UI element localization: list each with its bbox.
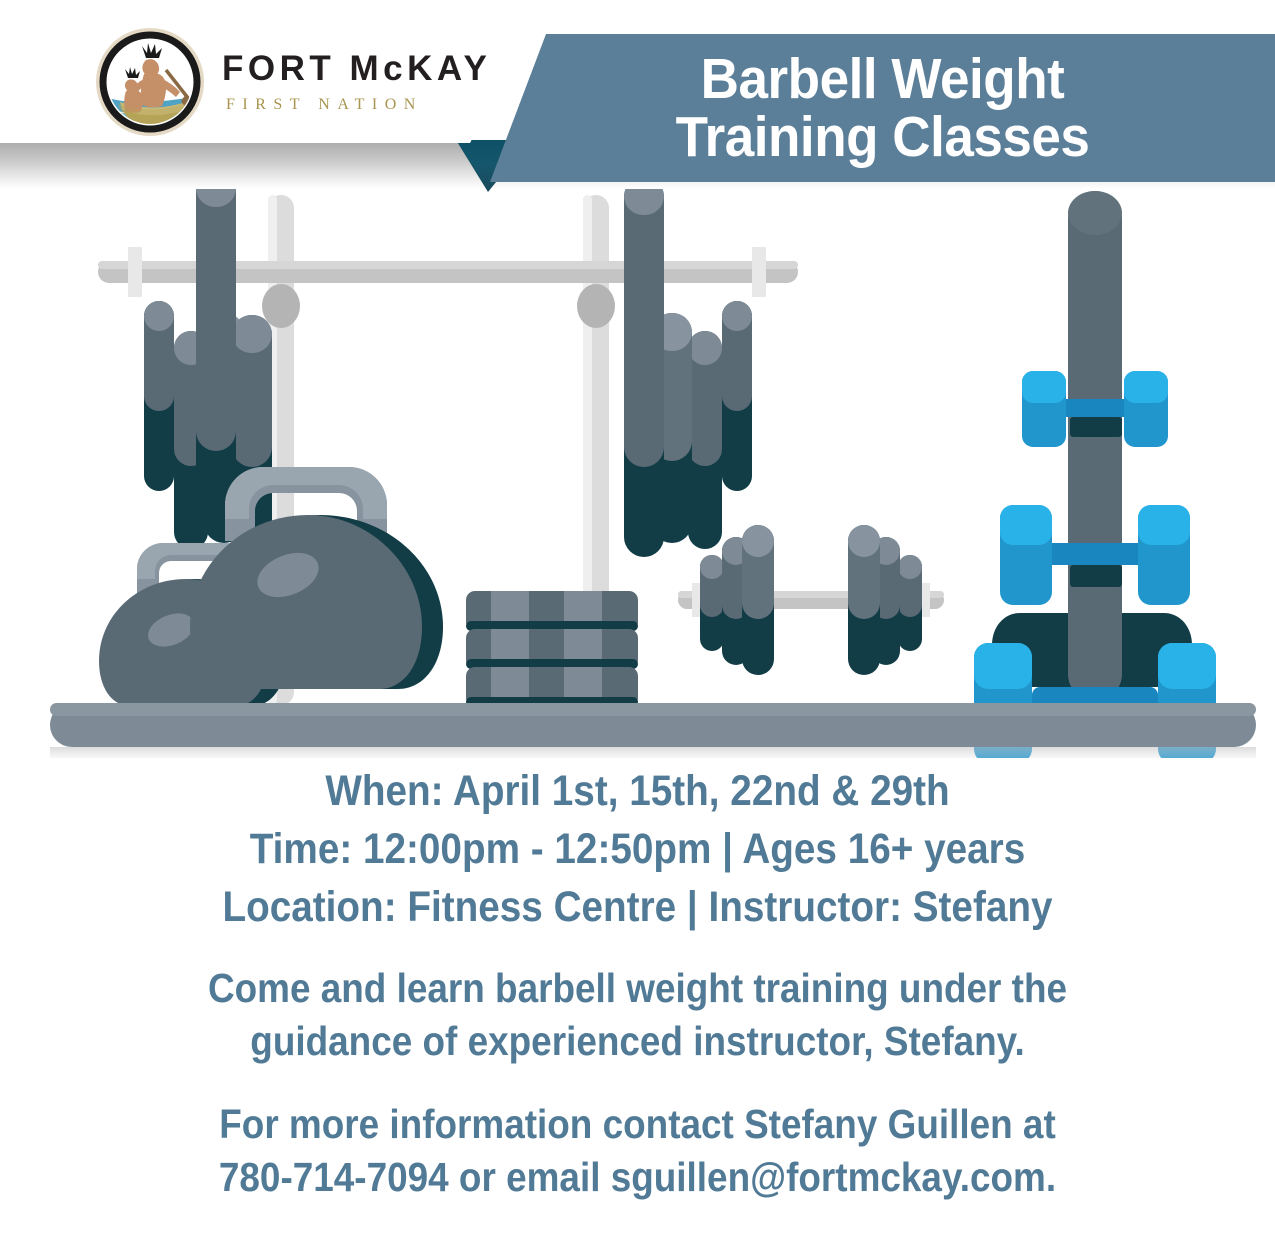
brand-name-secondary: FIRST NATION bbox=[226, 97, 491, 113]
poster-canvas: FORT McKAY FIRST NATION Barbell Weight T… bbox=[0, 0, 1275, 1251]
page-title-line-2: Training Classes bbox=[676, 108, 1090, 166]
description-block: Come and learn barbell weight training u… bbox=[0, 962, 1275, 1068]
description-line-2: guidance of experienced instructor, Stef… bbox=[64, 1015, 1212, 1068]
barbell-plates-right bbox=[624, 177, 752, 557]
description-line-1: Come and learn barbell weight training u… bbox=[64, 962, 1212, 1015]
detail-time-ages: Time: 12:00pm - 12:50pm | Ages 16+ years bbox=[64, 820, 1212, 878]
barbell-plate-tall-left bbox=[196, 169, 236, 529]
contact-line-2: 780-714-7094 or email sguillen@fortmckay… bbox=[64, 1151, 1212, 1204]
brand-wordmark: FORT McKAY FIRST NATION bbox=[222, 51, 491, 113]
contact-line-1: For more information contact Stefany Gui… bbox=[64, 1098, 1212, 1151]
class-details-block: When: April 1st, 15th, 22nd & 29th Time:… bbox=[0, 762, 1275, 936]
brand-logo: FORT McKAY FIRST NATION bbox=[96, 26, 491, 138]
poster-content: When: April 1st, 15th, 22nd & 29th Time:… bbox=[0, 762, 1275, 1204]
dumbbell-floor bbox=[678, 525, 944, 675]
detail-location-instructor: Location: Fitness Centre | Instructor: S… bbox=[64, 878, 1212, 936]
dumbbell-rack-tower bbox=[974, 191, 1216, 758]
floor-platform bbox=[50, 703, 1256, 758]
brand-name-primary: FORT McKAY bbox=[222, 51, 491, 86]
gym-equipment-illustration bbox=[0, 143, 1275, 758]
kettlebell-large bbox=[190, 467, 443, 689]
fort-mckay-canoe-emblem-icon bbox=[96, 26, 204, 138]
detail-when: When: April 1st, 15th, 22nd & 29th bbox=[64, 762, 1212, 820]
page-title-line-1: Barbell Weight bbox=[701, 50, 1065, 108]
title-banner: Barbell Weight Training Classes bbox=[490, 34, 1275, 182]
contact-block: For more information contact Stefany Gui… bbox=[0, 1098, 1275, 1204]
